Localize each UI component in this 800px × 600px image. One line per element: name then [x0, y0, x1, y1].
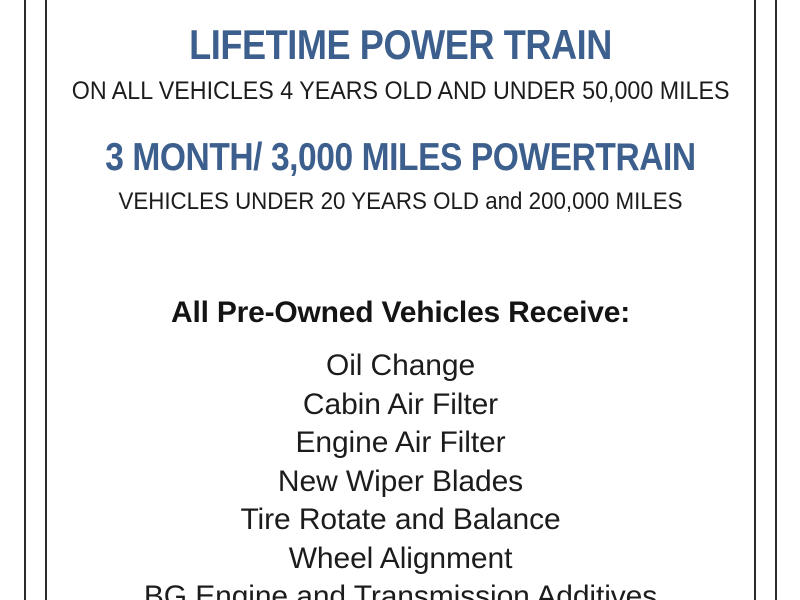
service-list-item: Wheel Alignment — [47, 540, 754, 579]
service-list-item: Oil Change — [47, 347, 754, 386]
service-list-item: Engine Air Filter — [47, 424, 754, 463]
three-month-powertrain-headline: 3 MONTH/ 3,000 MILES POWERTRAIN — [96, 138, 704, 177]
flyer-page: LIFETIME POWER TRAIN ON ALL VEHICLES 4 Y… — [0, 0, 800, 600]
services-list: Oil ChangeCabin Air FilterEngine Air Fil… — [47, 347, 754, 600]
lifetime-powertrain-headline: LIFETIME POWER TRAIN — [96, 24, 704, 66]
outer-left-rule — [24, 0, 26, 600]
inner-right-rule — [754, 0, 756, 600]
services-title: All Pre-Owned Vehicles Receive: — [47, 298, 754, 328]
lifetime-powertrain-subline: ON ALL VEHICLES 4 YEARS OLD AND UNDER 50… — [72, 79, 730, 104]
service-list-item: Tire Rotate and Balance — [47, 501, 754, 540]
content-column: LIFETIME POWER TRAIN ON ALL VEHICLES 4 Y… — [47, 0, 754, 600]
services-block: All Pre-Owned Vehicles Receive: Oil Chan… — [47, 298, 754, 600]
warranty-block-three-month-powertrain: 3 MONTH/ 3,000 MILES POWERTRAIN VEHICLES… — [47, 138, 754, 214]
service-list-item: BG Engine and Transmission Additives — [47, 578, 754, 600]
three-month-powertrain-subline: VEHICLES UNDER 20 YEARS OLD and 200,000 … — [72, 190, 730, 214]
warranty-block-lifetime-powertrain: LIFETIME POWER TRAIN ON ALL VEHICLES 4 Y… — [47, 24, 754, 104]
service-list-item: New Wiper Blades — [47, 463, 754, 502]
outer-right-rule — [775, 0, 777, 600]
service-list-item: Cabin Air Filter — [47, 386, 754, 425]
